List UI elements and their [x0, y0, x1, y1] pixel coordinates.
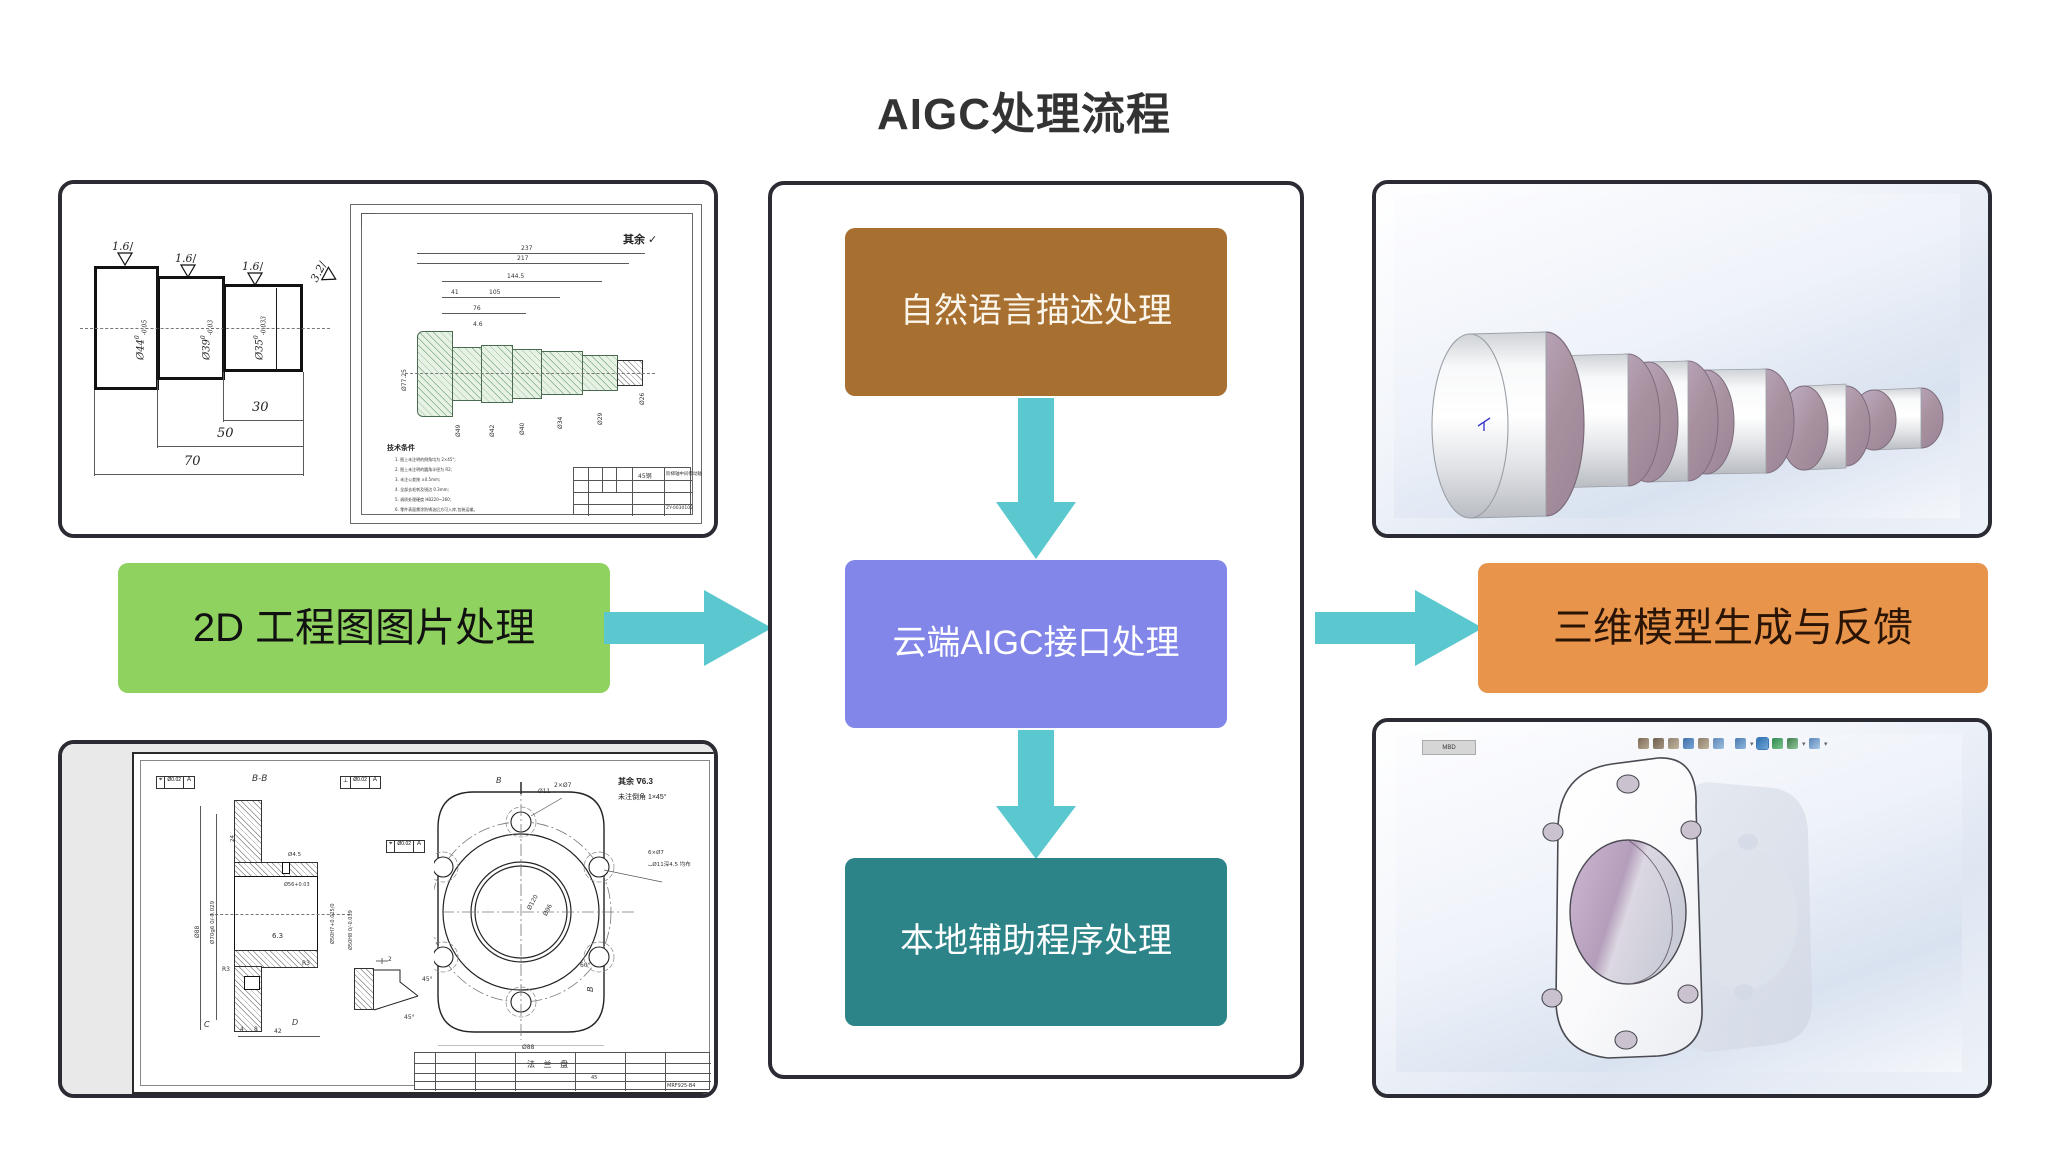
- title-block-part-name: 阶梯轴中间传动轴: [666, 471, 702, 477]
- gdt-frame-2: ⊥ Ø0.02 A: [340, 776, 381, 789]
- cad-sheet-shaft: 其余 ✓ 237 217 144.5 105: [350, 204, 702, 524]
- pipeline-step-1[interactable]: 自然语言描述处理: [845, 228, 1227, 396]
- panel-model-flange: MBD ▾ ▾ ▾: [1372, 718, 1992, 1098]
- chamfer-detail-view: 2 45° 45°: [348, 950, 444, 1034]
- sheet-dim-d1: Ø77.25: [401, 369, 408, 391]
- shaft-section-seg-1: [417, 331, 453, 417]
- hole-note: 6×Ø7: [648, 850, 664, 856]
- panel-drawing-shaft: 1.6∕ 1.6∕ 1.6∕ 3.2∕ Ø440-0.05: [58, 180, 718, 538]
- roughness-triangle-1: [117, 252, 133, 266]
- arrow-nlp-to-cloud: [996, 398, 1076, 560]
- datum-d: D: [292, 1018, 298, 1027]
- arrow-input-to-pipeline: [604, 590, 774, 666]
- flange-section-mark-top: B: [496, 776, 502, 785]
- sheet-general-roughness: 其余 ✓: [623, 231, 657, 247]
- pipeline-step-2-label: 云端AIGC接口处理: [892, 624, 1179, 663]
- flange-chamfer-note: 未注倒角 1×45°: [618, 792, 667, 802]
- dim-diameter-3: Ø350-0.033: [253, 316, 267, 360]
- flange-part-name: 法 兰 盘: [527, 1059, 571, 1070]
- flange-hub-top: [234, 800, 262, 864]
- dim-length-50: 50: [217, 426, 234, 441]
- gdt-frame-3: ⌖ Ø0.02 A: [386, 840, 425, 853]
- page-title: AIGC处理流程: [0, 78, 2048, 142]
- flange-drawing-no: MRF925-B4: [667, 1083, 695, 1089]
- title-block-drawing-no: ZY-0030102: [666, 506, 693, 511]
- shaft-section-seg-4: [512, 349, 542, 399]
- panel-model-shaft: [1372, 180, 1992, 538]
- roughness-mark-4-group: 3.2∕: [308, 259, 329, 284]
- pipeline-step-1-label: 自然语言描述处理: [900, 292, 1172, 331]
- flange-section-mark-bottom: B: [586, 987, 595, 993]
- flange-material: 45: [591, 1075, 597, 1081]
- flange-general-roughness: 其余 ∇6.3: [618, 776, 653, 787]
- shaft-3d-render: [1376, 184, 1988, 534]
- output-stage-label: 三维模型生成与反馈: [1553, 605, 1913, 651]
- pipeline-step-2[interactable]: 云端AIGC接口处理: [845, 560, 1227, 728]
- shaft-section-seg-2: [452, 347, 482, 401]
- section-label-bb: B-B: [252, 774, 267, 784]
- dim-length-70: 70: [184, 454, 201, 469]
- arrow-cloud-to-local: [996, 730, 1076, 860]
- flange-notch: [244, 976, 260, 990]
- roughness-triangle-2: [180, 264, 196, 278]
- title-block-material: 45钢: [638, 471, 652, 480]
- dim-diameter-1: Ø440-0.05: [134, 320, 148, 360]
- input-stage-box[interactable]: 2D 工程图图片处理: [118, 563, 610, 693]
- diagram-canvas: AIGC处理流程 1.6∕ 1.6∕ 1.6∕: [0, 0, 2048, 1152]
- shaft-section-seg-3: [481, 345, 513, 403]
- roughness-triangle-3: [247, 272, 263, 286]
- flange-3d-render: [1376, 722, 1988, 1094]
- flange-groove: [282, 862, 290, 874]
- flange-front-view: [434, 778, 690, 1046]
- sheet-title-block: 45钢 阶梯轴中间传动轴 ZY-0030102: [573, 467, 691, 515]
- pipeline-step-3-label: 本地辅助程序处理: [900, 922, 1172, 961]
- output-stage-box[interactable]: 三维模型生成与反馈: [1478, 563, 1988, 693]
- dim-diameter-2: Ø390-0.03: [200, 320, 214, 360]
- dim-length-30: 30: [252, 400, 269, 415]
- arrow-pipeline-to-output: [1315, 590, 1485, 666]
- panel-drawing-flange: ⌖ Ø0.02 A ⊥ Ø0.02 A ⌖ Ø0.02 A B-B: [58, 740, 718, 1098]
- flange-title-block: 法 兰 盘 45 MRF925-B4: [414, 1052, 710, 1090]
- gdt-frame-1: ⌖ Ø0.02 A: [156, 776, 195, 789]
- datum-c: C: [204, 1020, 210, 1029]
- pipeline-step-3[interactable]: 本地辅助程序处理: [845, 858, 1227, 1026]
- input-stage-label: 2D 工程图图片处理: [193, 605, 535, 651]
- sheet-notes-title: 技术条件: [387, 443, 415, 453]
- cad-sheet-flange: ⌖ Ø0.02 A ⊥ Ø0.02 A ⌖ Ø0.02 A B-B: [132, 752, 718, 1094]
